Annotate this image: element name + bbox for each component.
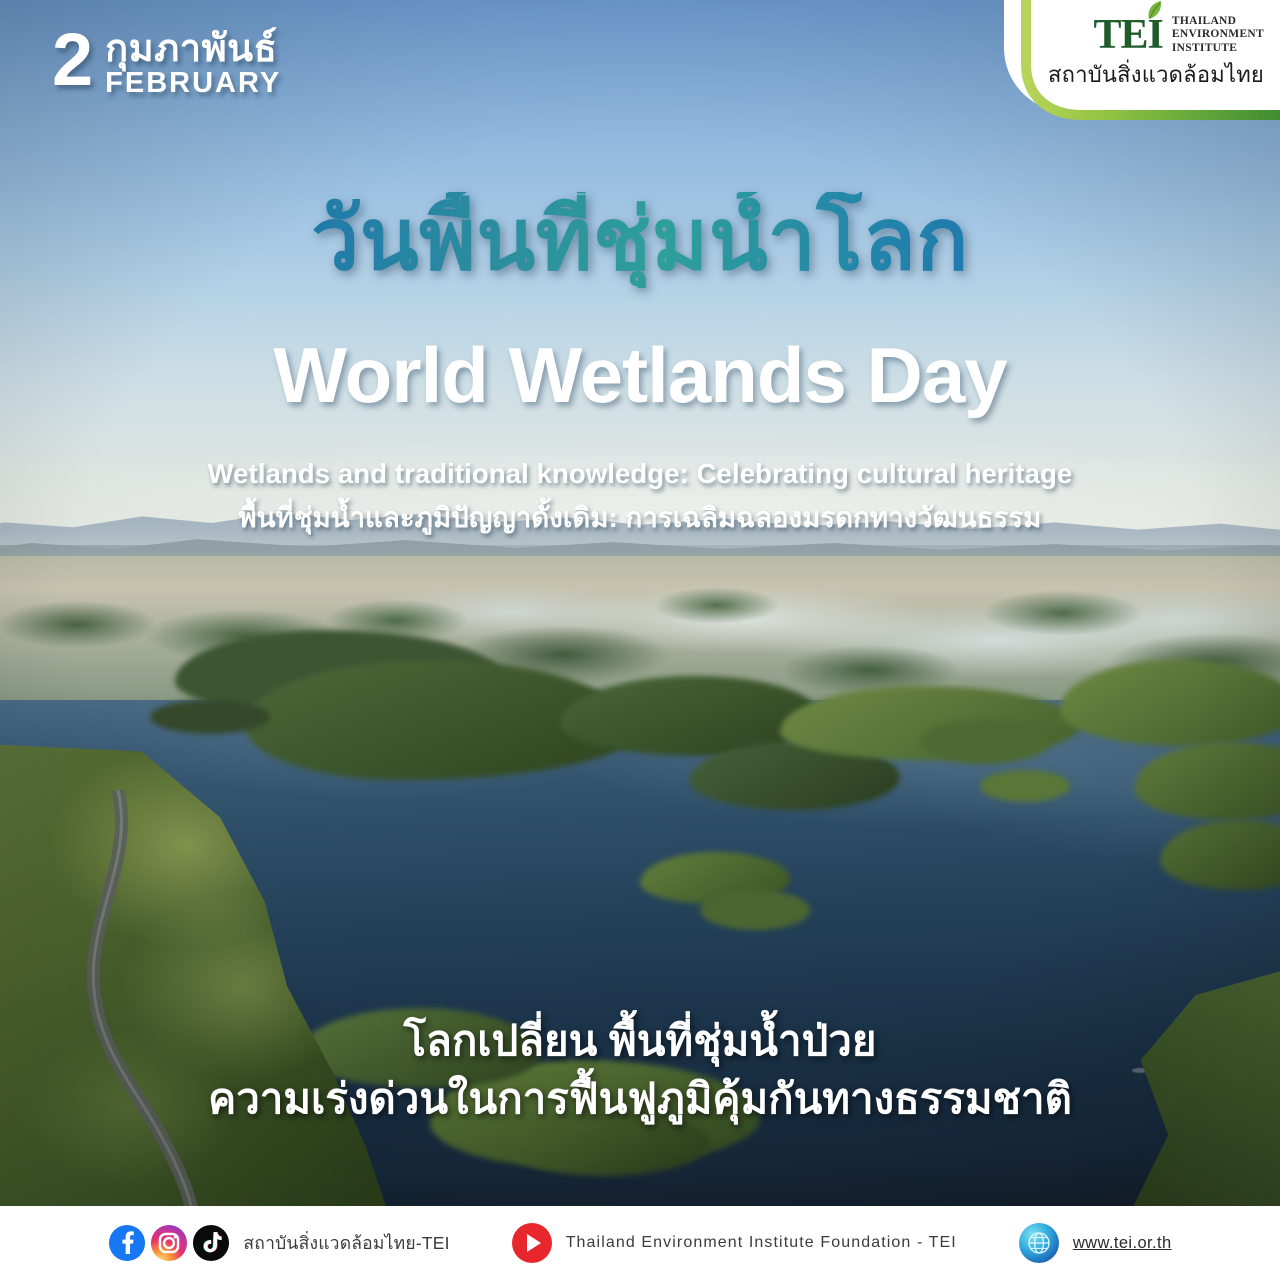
poster-canvas: 2 กุมภาพันธ์ FEBRUARY TEI xyxy=(0,0,1280,1280)
footer-bar: สถาบันสิ่งแวดล้อมไทย-TEI Thailand Enviro… xyxy=(0,1206,1280,1280)
website-group: www.tei.or.th xyxy=(1019,1223,1172,1263)
tei-wordmark: TEI xyxy=(1094,14,1163,56)
logo-content: TEI THAILAND ENVIRONMENT INSTITUTE สถาบั… xyxy=(1020,14,1264,92)
globe-glyph xyxy=(1026,1230,1052,1256)
date-month-thai: กุมภาพันธ์ xyxy=(105,30,281,70)
vegetation-island xyxy=(700,890,810,930)
globe-icon[interactable] xyxy=(1019,1223,1059,1263)
website-link[interactable]: www.tei.or.th xyxy=(1073,1234,1172,1253)
social-group: สถาบันสิ่งแวดล้อมไทย-TEI xyxy=(108,1224,449,1262)
play-triangle-icon xyxy=(527,1234,541,1252)
social-icon-row xyxy=(108,1224,230,1262)
tiktok-icon[interactable] xyxy=(192,1224,230,1262)
date-month-english: FEBRUARY xyxy=(105,68,281,98)
message-line-2: ความเร่งด่วนในการฟื้นฟูภูมิคุ้มกันทางธรร… xyxy=(0,1074,1280,1124)
youtube-icon[interactable] xyxy=(512,1223,552,1263)
instagram-icon[interactable] xyxy=(150,1224,188,1262)
tei-sub-line-2: ENVIRONMENT xyxy=(1172,28,1264,42)
title-thai: วันพื้นที่ชุ่มน้ำโลก xyxy=(0,192,1280,288)
tei-logo-panel[interactable]: TEI THAILAND ENVIRONMENT INSTITUTE สถาบั… xyxy=(1004,0,1280,120)
vegetation-island xyxy=(920,720,1050,764)
date-badge: 2 กุมภาพันธ์ FEBRUARY xyxy=(52,24,281,98)
title-english: World Wetlands Day xyxy=(0,333,1280,419)
theme-english: Wetlands and traditional knowledge: Cele… xyxy=(0,458,1280,490)
tei-thai-name: สถาบันสิ่งแวดล้อมไทย xyxy=(1048,57,1264,92)
tei-subtitle: THAILAND ENVIRONMENT INSTITUTE xyxy=(1172,15,1264,56)
vegetation-island xyxy=(980,770,1070,802)
leaf-icon xyxy=(1145,0,1165,24)
road-path xyxy=(40,790,270,1206)
theme-thai: พื้นที่ชุ่มน้ำและภูมิปัญญาดั้งเดิม: การเ… xyxy=(0,496,1280,540)
vegetation-island xyxy=(150,700,270,734)
date-day: 2 xyxy=(52,24,91,95)
youtube-channel-label: Thailand Environment Institute Foundatio… xyxy=(566,1234,957,1252)
tei-sub-line-1: THAILAND xyxy=(1172,15,1264,29)
facebook-icon[interactable] xyxy=(108,1224,146,1262)
youtube-group: Thailand Environment Institute Foundatio… xyxy=(512,1223,957,1263)
message-line-1: โลกเปลี่ยน พื้นที่ชุ่มน้ำป่วย xyxy=(0,1016,1280,1066)
social-account-label: สถาบันสิ่งแวดล้อมไทย-TEI xyxy=(243,1229,449,1257)
tei-sub-line-3: INSTITUTE xyxy=(1172,42,1264,56)
